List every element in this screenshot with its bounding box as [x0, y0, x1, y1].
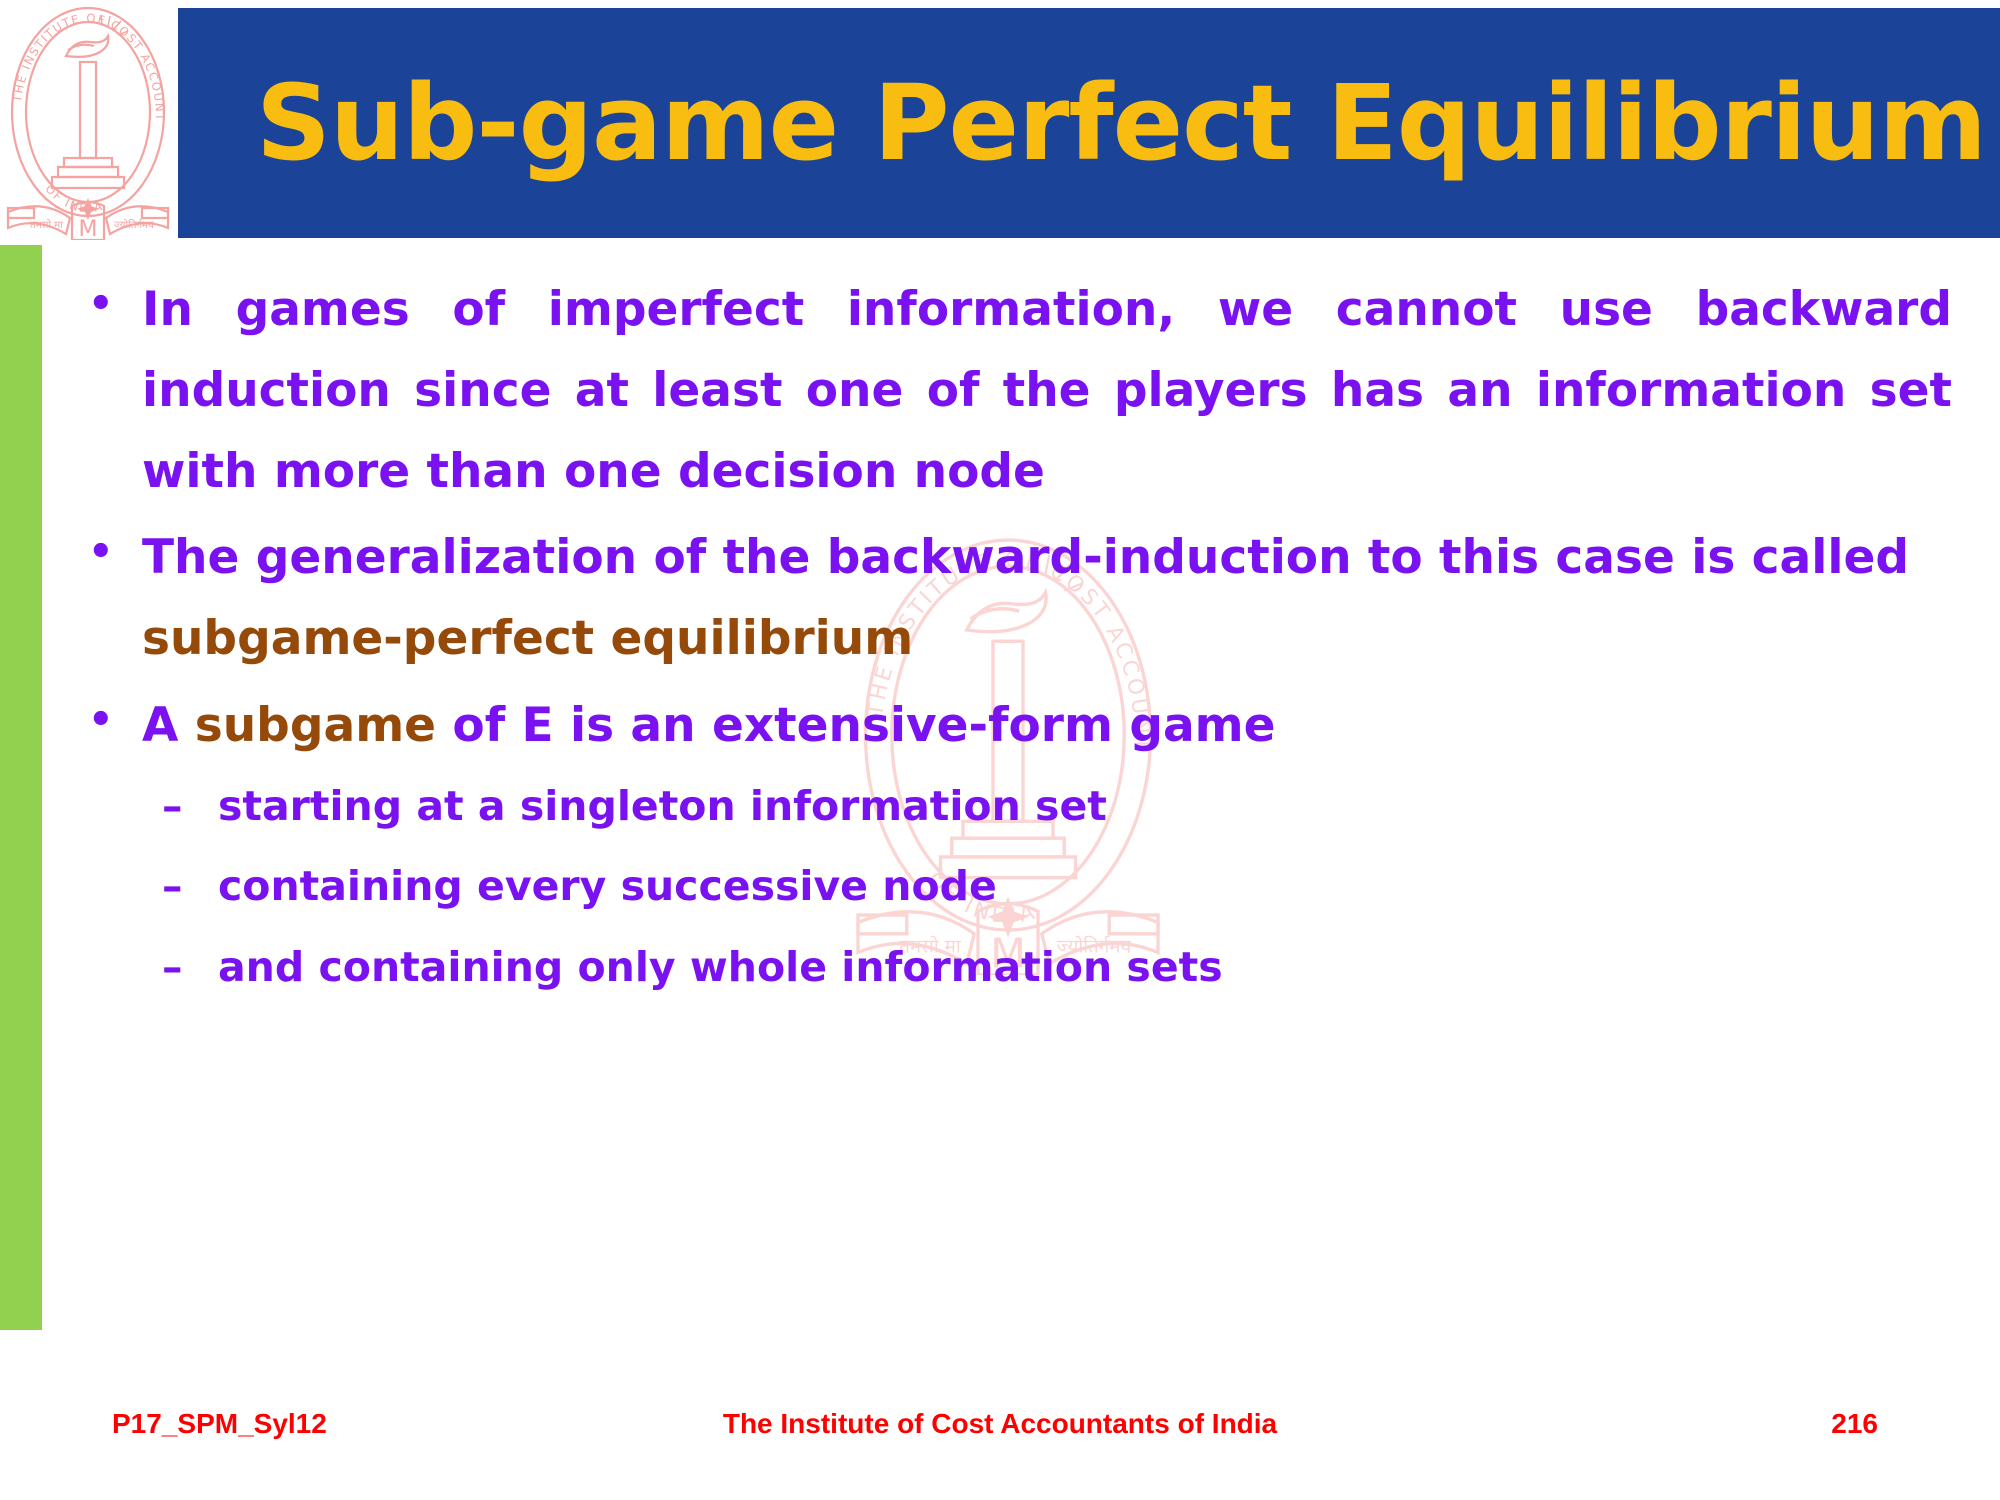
bullet-segment: A [142, 698, 195, 753]
slide-canvas: M तमसो मा ज्योतिर्गमय THE INSTITUTE OF C… [0, 0, 2000, 1500]
institute-logo-icon: M तमसो मा ज्योतिर्गमय THE INSTITUTE OF C… [2, 0, 174, 240]
sub-bullet-text: starting at a singleton information set [218, 773, 1970, 839]
bullet-item: • The generalization of the backward-ind… [70, 518, 1970, 680]
slide-body: • In games of imperfect information, we … [70, 270, 1970, 1330]
bullet-item: • In games of imperfect information, we … [70, 270, 1970, 512]
sub-bullet-item: – containing every successive node [70, 853, 1970, 919]
svg-text:तमसो मा: तमसो मा [30, 219, 63, 231]
svg-text:M: M [79, 217, 98, 240]
slide-title-bar: Sub-game Perfect Equilibrium [178, 8, 2000, 238]
footer-page-number: 216 [1831, 1408, 1878, 1440]
sub-bullet-text: and containing only whole information se… [218, 934, 1970, 1000]
bullet-segment: In games of imperfect information, we ca… [142, 282, 1952, 499]
sub-bullet-item: – and containing only whole information … [70, 934, 1970, 1000]
bullet-text: In games of imperfect information, we ca… [142, 270, 1952, 512]
svg-text:OF INDIA: OF INDIA [42, 182, 105, 216]
slide-footer: P17_SPM_Syl12 The Institute of Cost Acco… [0, 1408, 2000, 1468]
footer-institute-name: The Institute of Cost Accountants of Ind… [0, 1408, 2000, 1440]
bullet-marker: • [70, 518, 142, 587]
bullet-marker: • [70, 270, 142, 339]
sub-bullet-marker: – [70, 934, 218, 1000]
bullet-segment-emphasis: subgame [195, 698, 436, 753]
bullet-segment-emphasis: subgame-perfect equilibrium [142, 611, 913, 666]
sub-bullet-text: containing every successive node [218, 853, 1970, 919]
bullet-marker: • [70, 686, 142, 755]
sub-bullet-marker: – [70, 853, 218, 919]
sub-bullet-item: – starting at a singleton information se… [70, 773, 1970, 839]
green-accent-strip [0, 245, 42, 1330]
bullet-text: The generalization of the backward-induc… [142, 518, 1952, 680]
page-title: Sub-game Perfect Equilibrium [256, 71, 1986, 175]
bullet-segment: of E is an extensive-form game [436, 698, 1275, 753]
bullet-segment: The generalization of the backward-induc… [142, 530, 1909, 585]
svg-text:ज्योतिर्गमय: ज्योतिर्गमय [114, 219, 154, 231]
bullet-text: A subgame of E is an extensive-form game [142, 686, 1952, 767]
bullet-item: • A subgame of E is an extensive-form ga… [70, 686, 1970, 767]
sub-bullet-marker: – [70, 773, 218, 839]
